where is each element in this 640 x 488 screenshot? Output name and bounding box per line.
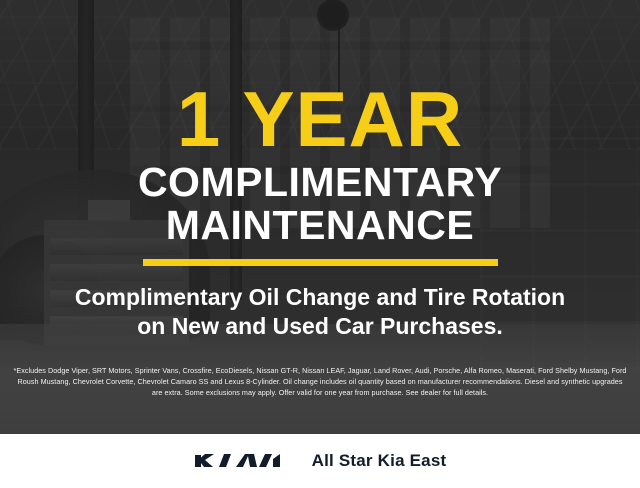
headline-maintenance: MAINTENANCE — [166, 205, 474, 246]
subheadline: Complimentary Oil Change and Tire Rotati… — [20, 283, 620, 342]
dealer-name: All Star Kia East — [312, 451, 447, 471]
promo-content: 1 YEAR COMPLIMENTARY MAINTENANCE Complim… — [0, 0, 640, 488]
subheadline-line-1: Complimentary Oil Change and Tire Rotati… — [20, 283, 620, 312]
yellow-divider-rule — [143, 259, 498, 266]
legal-disclaimer: *Excludes Dodge Viper, SRT Motors, Sprin… — [12, 366, 628, 399]
headline-one-year: 1 YEAR — [177, 84, 463, 156]
subheadline-line-2: on New and Used Car Purchases. — [20, 312, 620, 341]
headline-complimentary: COMPLIMENTARY — [138, 162, 502, 203]
promo-banner: 1 YEAR COMPLIMENTARY MAINTENANCE Complim… — [0, 0, 640, 488]
footer-bar: All Star Kia East — [0, 434, 640, 488]
kia-logo — [194, 448, 290, 474]
